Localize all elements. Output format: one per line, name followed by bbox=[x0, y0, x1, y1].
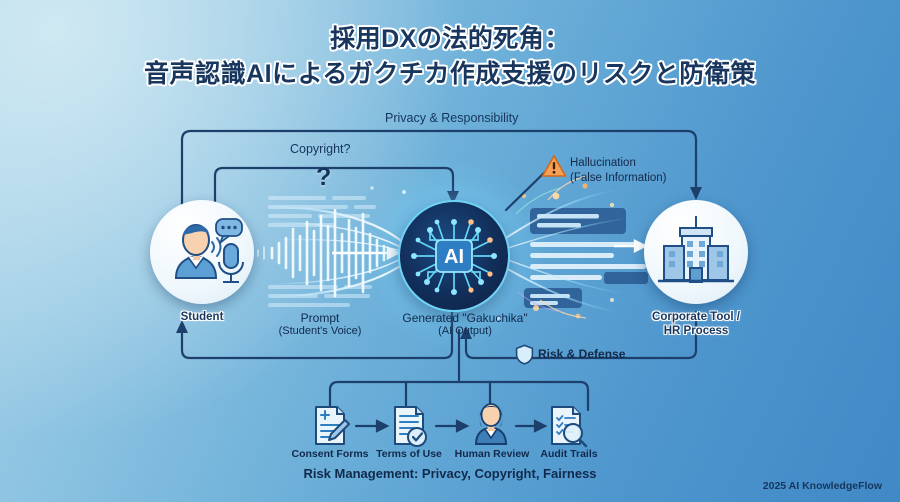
risk-management-caption: Risk Management: Privacy, Copyright, Fai… bbox=[0, 466, 900, 481]
risk-chain-arrows bbox=[0, 0, 900, 502]
infographic-canvas: 採用DXの法的死角： 音声認識AIによるガクチカ作成支援のリスクと防衛策 Pri… bbox=[0, 0, 900, 502]
footer-credit: 2025 AI KnowledgeFlow bbox=[763, 480, 882, 492]
